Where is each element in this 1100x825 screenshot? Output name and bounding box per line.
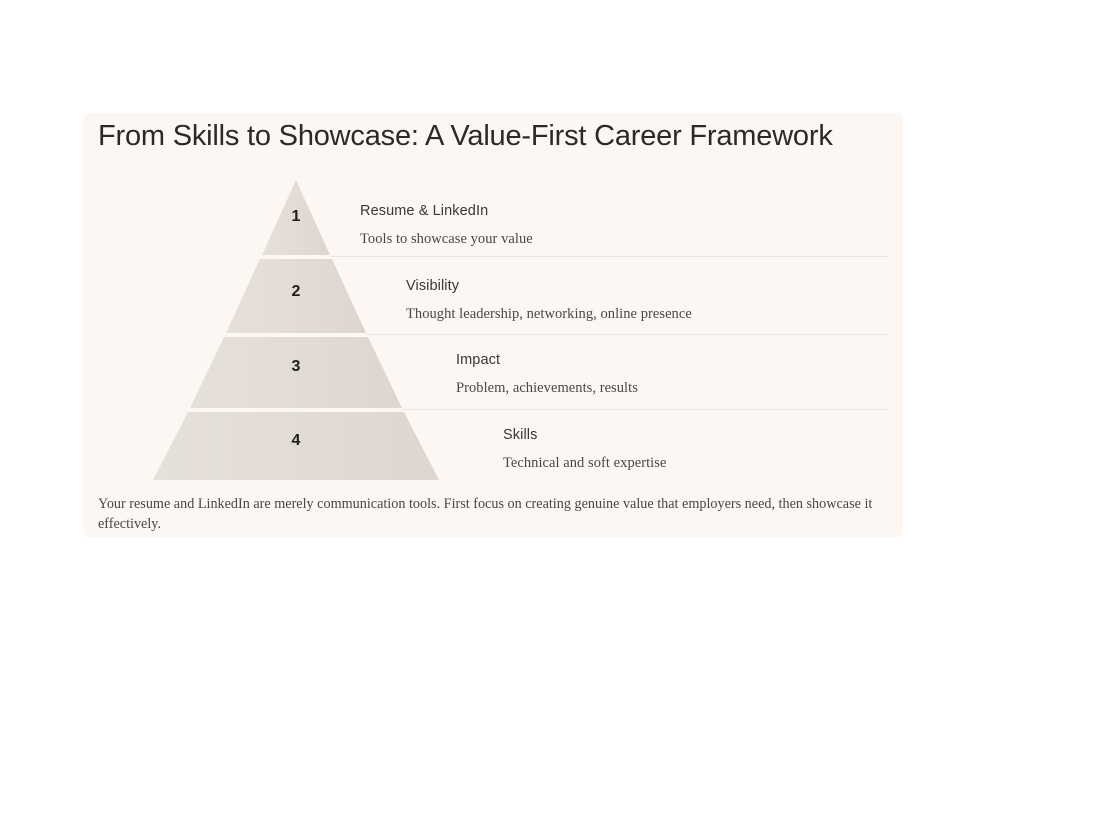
tier-number-3: 3 [276,358,316,376]
framework-card: From Skills to Showcase: A Value-First C… [83,113,903,537]
tier-desc-4: Technical and soft expertise [503,455,666,472]
tier-title-2: Visibility [406,278,692,294]
tier-label-3: Impact Problem, achievements, results [456,352,638,397]
tier-title-4: Skills [503,427,666,443]
caption-text: Your resume and LinkedIn are merely comm… [98,494,888,534]
tier-number-4: 4 [276,432,316,450]
tier-label-2: Visibility Thought leadership, networkin… [406,278,692,323]
pyramid-diagram: 1 2 3 4 Resume & LinkedIn Tools to showc… [83,168,903,480]
tier-label-1: Resume & LinkedIn Tools to showcase your… [360,203,533,248]
tier-label-4: Skills Technical and soft expertise [503,427,666,472]
tier-separator-1 [330,256,888,257]
tier-desc-2: Thought leadership, networking, online p… [406,306,692,323]
tier-number-2: 2 [276,283,316,301]
tier-title-1: Resume & LinkedIn [360,203,533,219]
tier-desc-3: Problem, achievements, results [456,380,638,397]
tier-desc-1: Tools to showcase your value [360,231,533,248]
tier-number-1: 1 [276,208,316,226]
tier-title-3: Impact [456,352,638,368]
tier-separator-2 [366,334,888,335]
tier-separator-3 [402,409,888,410]
page-title: From Skills to Showcase: A Value-First C… [98,120,833,153]
